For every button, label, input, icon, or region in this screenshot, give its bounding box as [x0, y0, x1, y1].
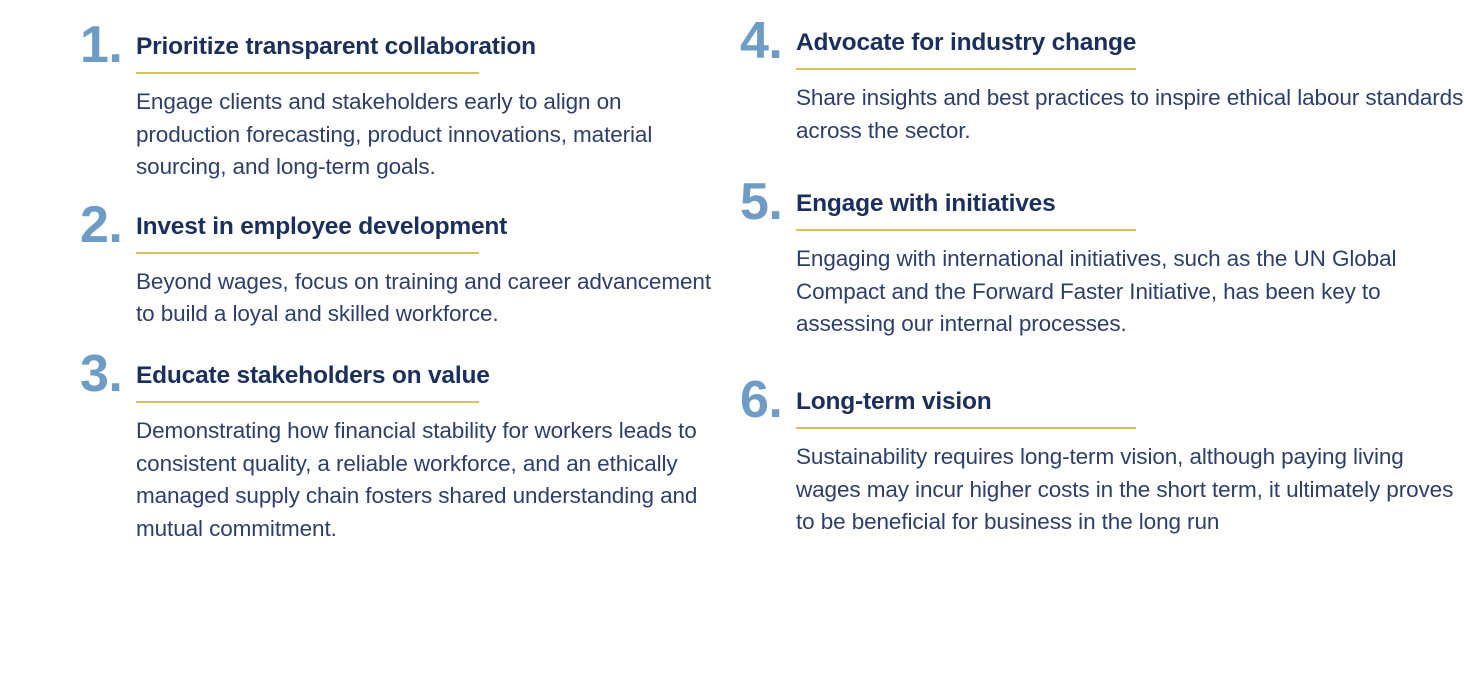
item-title: Long-term vision [796, 389, 1464, 416]
item-title: Invest in employee development [136, 214, 722, 241]
item-number-dot: . [108, 196, 122, 254]
item-number-dot: . [108, 345, 122, 403]
item-number-dot: . [108, 16, 122, 74]
list-item: 5. Engage with initiatives Engaging with… [740, 191, 1464, 341]
item-number-dot: . [768, 173, 782, 231]
item-body: Engage with initiatives Engaging with in… [796, 191, 1464, 341]
list-item: 4. Advocate for industry change Share in… [740, 30, 1464, 147]
item-description: Engage clients and stakeholders early to… [136, 86, 722, 184]
item-title: Advocate for industry change [796, 30, 1464, 57]
item-number-4: 4. [740, 18, 796, 66]
item-title: Engage with initiatives [796, 191, 1464, 218]
item-number-6: 6. [740, 377, 796, 425]
item-divider-rule [796, 68, 1136, 70]
item-body: Long-term vision Sustainability requires… [796, 389, 1464, 539]
item-description: Beyond wages, focus on training and care… [136, 266, 722, 331]
item-title: Educate stakeholders on value [136, 363, 722, 390]
item-number-value: 5 [740, 173, 768, 231]
item-number-value: 4 [740, 12, 768, 70]
item-number-value: 6 [740, 371, 768, 429]
item-number-value: 1 [80, 16, 108, 74]
left-column: 1. Prioritize transparent collaboration … [0, 22, 722, 674]
item-number-2: 2. [80, 202, 136, 250]
item-description: Demonstrating how financial stability fo… [136, 415, 722, 546]
item-number-dot: . [768, 371, 782, 429]
item-number-value: 2 [80, 196, 108, 254]
list-item: 6. Long-term vision Sustainability requi… [740, 389, 1464, 539]
list-item: 1. Prioritize transparent collaboration … [80, 34, 722, 184]
list-item: 2. Invest in employee development Beyond… [80, 214, 722, 331]
item-description: Engaging with international initiatives,… [796, 243, 1464, 341]
item-divider-rule [136, 401, 479, 403]
list-item: 3. Educate stakeholders on value Demonst… [80, 363, 722, 545]
item-number-1: 1. [80, 22, 136, 70]
item-number-dot: . [768, 12, 782, 70]
item-description: Share insights and best practices to ins… [796, 82, 1464, 147]
recommendations-board: 1. Prioritize transparent collaboration … [0, 0, 1464, 674]
item-body: Invest in employee development Beyond wa… [136, 214, 722, 331]
item-description: Sustainability requires long-term vision… [796, 441, 1464, 539]
item-divider-rule [136, 72, 479, 74]
item-divider-rule [136, 252, 479, 254]
right-column: 4. Advocate for industry change Share in… [722, 22, 1464, 674]
item-number-3: 3. [80, 351, 136, 399]
item-divider-rule [796, 229, 1136, 231]
item-body: Educate stakeholders on value Demonstrat… [136, 363, 722, 545]
item-body: Advocate for industry change Share insig… [796, 30, 1464, 147]
item-number-5: 5. [740, 179, 796, 227]
item-body: Prioritize transparent collaboration Eng… [136, 34, 722, 184]
item-title: Prioritize transparent collaboration [136, 34, 722, 61]
item-divider-rule [796, 427, 1136, 429]
item-number-value: 3 [80, 345, 108, 403]
